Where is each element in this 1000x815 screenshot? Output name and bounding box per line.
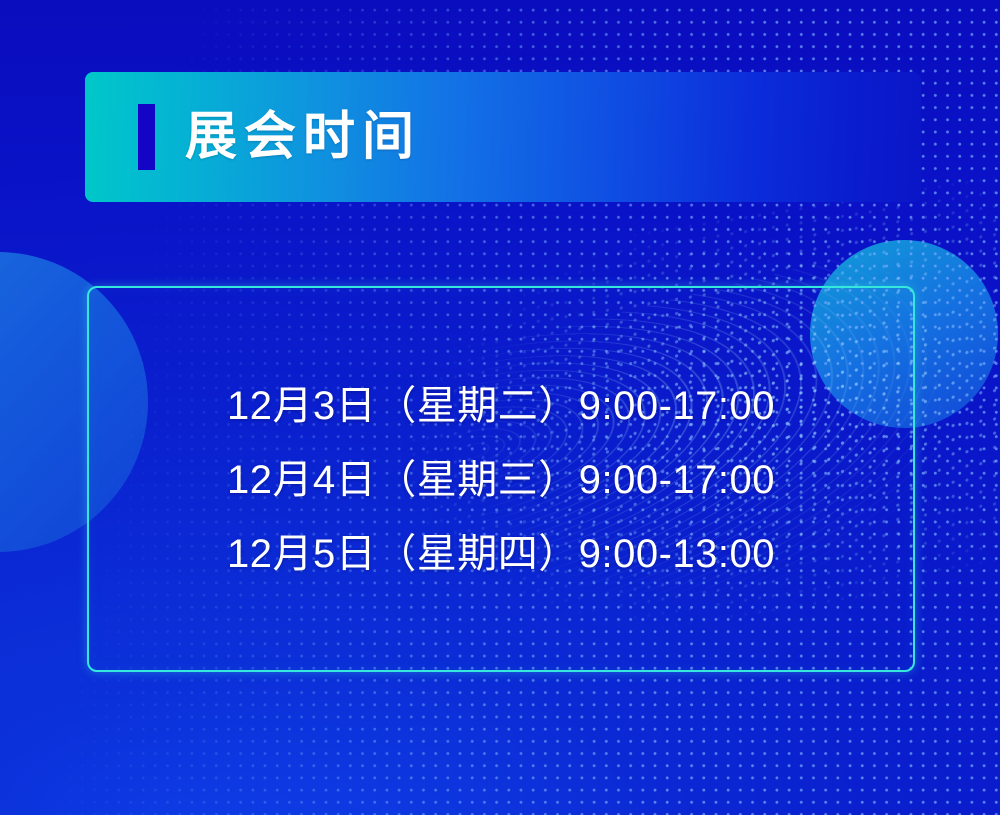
schedule-row: 12月3日（星期二）9:00-17:00 — [227, 386, 775, 426]
schedule-row: 12月5日（星期四）9:00-13:00 — [227, 534, 775, 574]
schedule-list: 12月3日（星期二）9:00-17:00 12月4日（星期三）9:00-17:0… — [227, 386, 775, 574]
page-title: 展会时间 — [185, 111, 421, 163]
poster-canvas: 展会时间 12月3日（星期二）9:00-17:00 12月4日（星期三）9:00… — [0, 0, 1000, 815]
header-accent-bar — [138, 104, 155, 170]
schedule-panel: 12月3日（星期二）9:00-17:00 12月4日（星期三）9:00-17:0… — [87, 286, 915, 672]
schedule-row: 12月4日（星期三）9:00-17:00 — [227, 460, 775, 500]
section-header-banner: 展会时间 — [85, 72, 921, 202]
